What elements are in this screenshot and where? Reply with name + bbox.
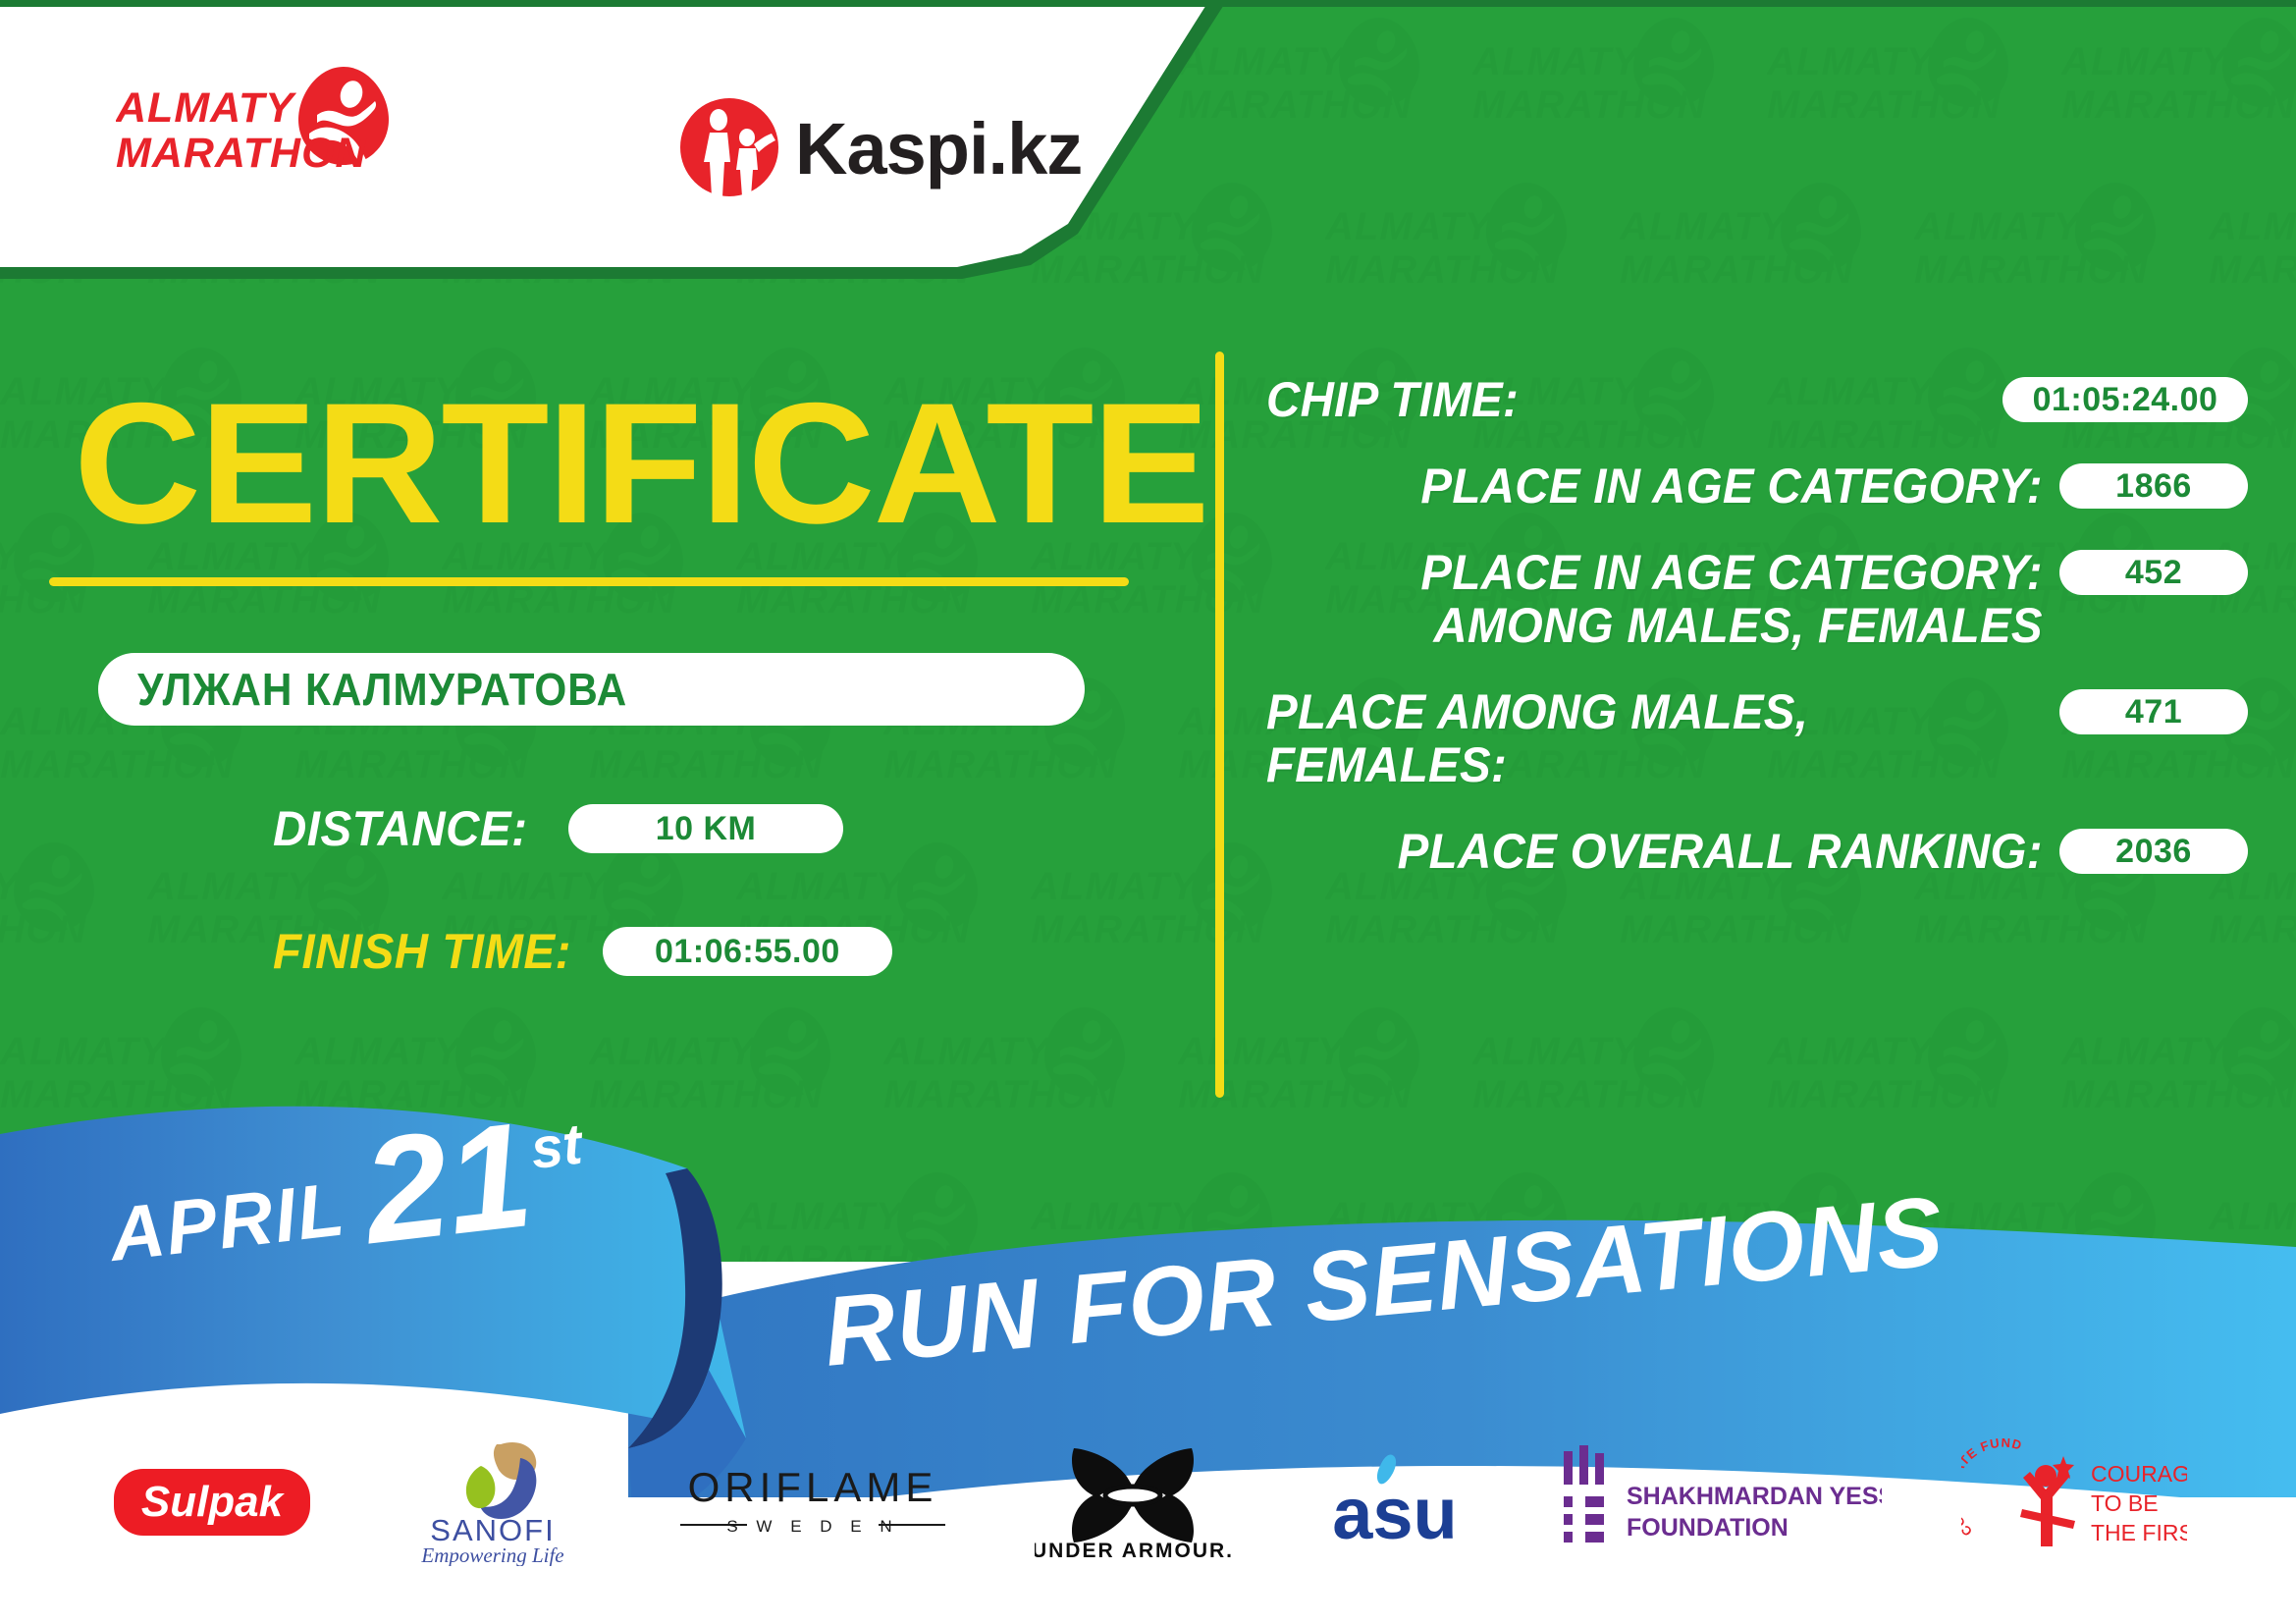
svg-text:Kaspi.kz: Kaspi.kz bbox=[795, 108, 1082, 189]
svg-text:ALMATY: ALMATY bbox=[1472, 1030, 1641, 1073]
stat-label: PLACE IN AGE CATEGORY: bbox=[1306, 460, 2059, 513]
svg-text:ALMATY: ALMATY bbox=[1472, 40, 1641, 83]
svg-text:COURAGE: COURAGE bbox=[2091, 1461, 2187, 1487]
svg-text:ORIFLAME: ORIFLAME bbox=[688, 1464, 938, 1510]
svg-text:ALMATY: ALMATY bbox=[589, 1030, 758, 1073]
svg-text:S W E D E N: S W E D E N bbox=[727, 1517, 899, 1536]
svg-text:MARATHON: MARATHON bbox=[294, 743, 528, 786]
svg-text:MARATHON: MARATHON bbox=[1620, 248, 1853, 292]
svg-text:ALMATY: ALMATY bbox=[1031, 865, 1200, 908]
svg-text:ALMATY: ALMATY bbox=[1620, 205, 1789, 248]
svg-text:MARATHON: MARATHON bbox=[2061, 83, 2295, 127]
svg-text:ALMATY: ALMATY bbox=[2061, 40, 2230, 83]
svg-text:MARATHON: MARATHON bbox=[0, 908, 86, 951]
stat-value: 01:05:24.00 bbox=[2002, 377, 2248, 422]
svg-text:SANOFI: SANOFI bbox=[430, 1513, 555, 1547]
svg-text:ALMATY: ALMATY bbox=[736, 865, 905, 908]
svg-text:ALMATY: ALMATY bbox=[0, 1030, 169, 1073]
svg-text:THE FIRST!: THE FIRST! bbox=[2091, 1520, 2187, 1545]
svg-text:ALMATY: ALMATY bbox=[1767, 40, 1936, 83]
svg-text:ALMATY: ALMATY bbox=[1178, 40, 1347, 83]
svg-text:ALMATY: ALMATY bbox=[0, 865, 22, 908]
svg-text:ALMATY: ALMATY bbox=[883, 1030, 1052, 1073]
svg-text:MARATHON: MARATHON bbox=[1914, 248, 2148, 292]
stat-row: PLACE IN AGE CATEGORY:1866 bbox=[1266, 460, 2248, 513]
svg-text:ALMATY: ALMATY bbox=[442, 865, 611, 908]
svg-text:ALMATY: ALMATY bbox=[1325, 205, 1494, 248]
watermark-tile: ALMATYMARATHON bbox=[1178, 0, 1472, 165]
stat-row: PLACE OVERALL RANKING:2036 bbox=[1266, 825, 2248, 878]
finish-time-label: FINISH TIME: bbox=[273, 923, 571, 980]
stat-label: PLACE AMONG MALES,FEMALES: bbox=[1266, 685, 2020, 791]
distance-label: DISTANCE: bbox=[273, 800, 527, 857]
sponsor-asu: asu bbox=[1311, 1448, 1478, 1556]
svg-text:asu: asu bbox=[1332, 1473, 1458, 1554]
svg-text:MARATHON: MARATHON bbox=[116, 130, 367, 177]
stat-label: PLACE OVERALL RANKING: bbox=[1306, 825, 2059, 878]
almaty-marathon-logo: ALMATY MARATHON bbox=[116, 61, 440, 179]
svg-text:MARATHON: MARATHON bbox=[883, 743, 1117, 786]
stat-row: PLACE IN AGE CATEGORY:AMONG MALES, FEMAL… bbox=[1266, 546, 2248, 652]
stat-value: 2036 bbox=[2059, 829, 2248, 874]
sponsor-corporate-fund: CORPORATE FUND COURAGE TO BE THE FIRST! bbox=[1961, 1438, 2187, 1566]
sponsor-sanofi: SANOFI Empowering Life bbox=[395, 1438, 591, 1566]
svg-text:MARATHON: MARATHON bbox=[2209, 908, 2296, 951]
stat-value: 1866 bbox=[2059, 463, 2248, 509]
svg-text:TO BE: TO BE bbox=[2091, 1490, 2159, 1516]
watermark-tile: ALMATYMARATHON bbox=[2061, 0, 2296, 165]
distance-value: 10 KM bbox=[568, 804, 843, 853]
stat-value: 452 bbox=[2059, 550, 2248, 595]
distance-row: DISTANCE: 10 KM bbox=[273, 800, 843, 857]
certificate-page: ALMATYMARATHONALMATYMARATHONALMATYMARATH… bbox=[0, 0, 2296, 1624]
participant-name-value: УЛЖАН КАЛМУРАТОВА bbox=[137, 663, 627, 716]
svg-text:MARATHON: MARATHON bbox=[1031, 248, 1264, 292]
watermark-tile: ALMATYMARATHON bbox=[1914, 165, 2209, 330]
watermark-tile: ALMATYMARATHON bbox=[1325, 165, 1620, 330]
vertical-divider bbox=[1215, 352, 1224, 1098]
title-underline bbox=[49, 577, 1129, 586]
svg-text:ALMATY: ALMATY bbox=[147, 865, 316, 908]
svg-text:Sulpak: Sulpak bbox=[141, 1478, 286, 1526]
sponsor-oriflame: ORIFLAME S W E D E N bbox=[670, 1458, 955, 1546]
svg-text:MARATHON: MARATHON bbox=[1472, 83, 1706, 127]
sponsor-yessenov-foundation: SHAKHMARDAN YESSENOV FOUNDATION bbox=[1558, 1443, 1882, 1561]
stat-row: PLACE AMONG MALES,FEMALES:471 bbox=[1266, 685, 2248, 791]
svg-text:MARATHON: MARATHON bbox=[1325, 248, 1559, 292]
svg-text:ALMATY: ALMATY bbox=[1178, 1030, 1347, 1073]
svg-text:CORPORATE FUND: CORPORATE FUND bbox=[1961, 1438, 2024, 1540]
svg-text:MARATHON: MARATHON bbox=[2209, 248, 2296, 292]
sponsor-strip: Sulpak SANOFI Empowering Life ORIFLAME S… bbox=[0, 1429, 2296, 1576]
svg-text:ALMATY: ALMATY bbox=[0, 535, 22, 578]
svg-text:ALMATY: ALMATY bbox=[116, 84, 296, 132]
stat-row: CHIP TIME:01:05:24.00 bbox=[1266, 373, 2248, 426]
svg-text:MARATHON: MARATHON bbox=[1620, 908, 1853, 951]
ribbon-day-suffix: st bbox=[527, 1111, 585, 1182]
watermark-tile: ALMATYMARATHON bbox=[1767, 0, 2061, 165]
stat-value: 471 bbox=[2059, 689, 2248, 734]
sponsor-under-armour: UNDER ARMOUR. bbox=[1035, 1443, 1231, 1561]
svg-text:ALMATY: ALMATY bbox=[2209, 205, 2296, 248]
svg-text:ALMATY: ALMATY bbox=[294, 1030, 463, 1073]
watermark-tile: ALMATYMARATHON bbox=[1472, 0, 1767, 165]
watermark-tile: ALMATYMARATHON bbox=[2209, 165, 2296, 330]
finish-time-value: 01:06:55.00 bbox=[603, 927, 892, 976]
participant-name-field: УЛЖАН КАЛМУРАТОВА bbox=[98, 653, 1085, 726]
svg-text:Empowering Life: Empowering Life bbox=[420, 1543, 563, 1566]
svg-text:ALMATY: ALMATY bbox=[1767, 1030, 1936, 1073]
ribbon-day: 21 bbox=[358, 1111, 538, 1256]
stat-label: PLACE IN AGE CATEGORY:AMONG MALES, FEMAL… bbox=[1306, 546, 2059, 652]
svg-text:SHAKHMARDAN YESSENOV: SHAKHMARDAN YESSENOV bbox=[1627, 1483, 1882, 1510]
sponsor-sulpak: Sulpak bbox=[109, 1453, 315, 1551]
kaspi-logo: Kaspi.kz bbox=[677, 93, 1090, 201]
svg-text:MARATHON: MARATHON bbox=[589, 743, 823, 786]
svg-text:MARATHON: MARATHON bbox=[1178, 83, 1412, 127]
stats-list: CHIP TIME:01:05:24.00PLACE IN AGE CATEGO… bbox=[1266, 373, 2248, 911]
svg-text:FOUNDATION: FOUNDATION bbox=[1627, 1514, 1789, 1542]
top-border-line bbox=[0, 0, 2296, 7]
page-title: CERTIFICATE bbox=[74, 378, 1208, 550]
svg-text:MARATHON: MARATHON bbox=[1914, 908, 2148, 951]
svg-text:UNDER ARMOUR.: UNDER ARMOUR. bbox=[1035, 1540, 1231, 1561]
ribbon-month: APRIL bbox=[105, 1166, 350, 1280]
svg-text:MARATHON: MARATHON bbox=[0, 743, 234, 786]
svg-text:ALMATY: ALMATY bbox=[2061, 1030, 2230, 1073]
svg-text:MARATHON: MARATHON bbox=[1031, 908, 1264, 951]
svg-text:MARATHON: MARATHON bbox=[1325, 908, 1559, 951]
finish-time-row: FINISH TIME: 01:06:55.00 bbox=[273, 923, 892, 980]
svg-text:ALMATY: ALMATY bbox=[1914, 205, 2083, 248]
svg-text:MARATHON: MARATHON bbox=[1767, 83, 2001, 127]
watermark-tile: ALMATYMARATHON bbox=[1620, 165, 1914, 330]
watermark-tile: ALMATYMARATHON bbox=[0, 825, 147, 990]
stat-label: CHIP TIME: bbox=[1266, 373, 1966, 426]
